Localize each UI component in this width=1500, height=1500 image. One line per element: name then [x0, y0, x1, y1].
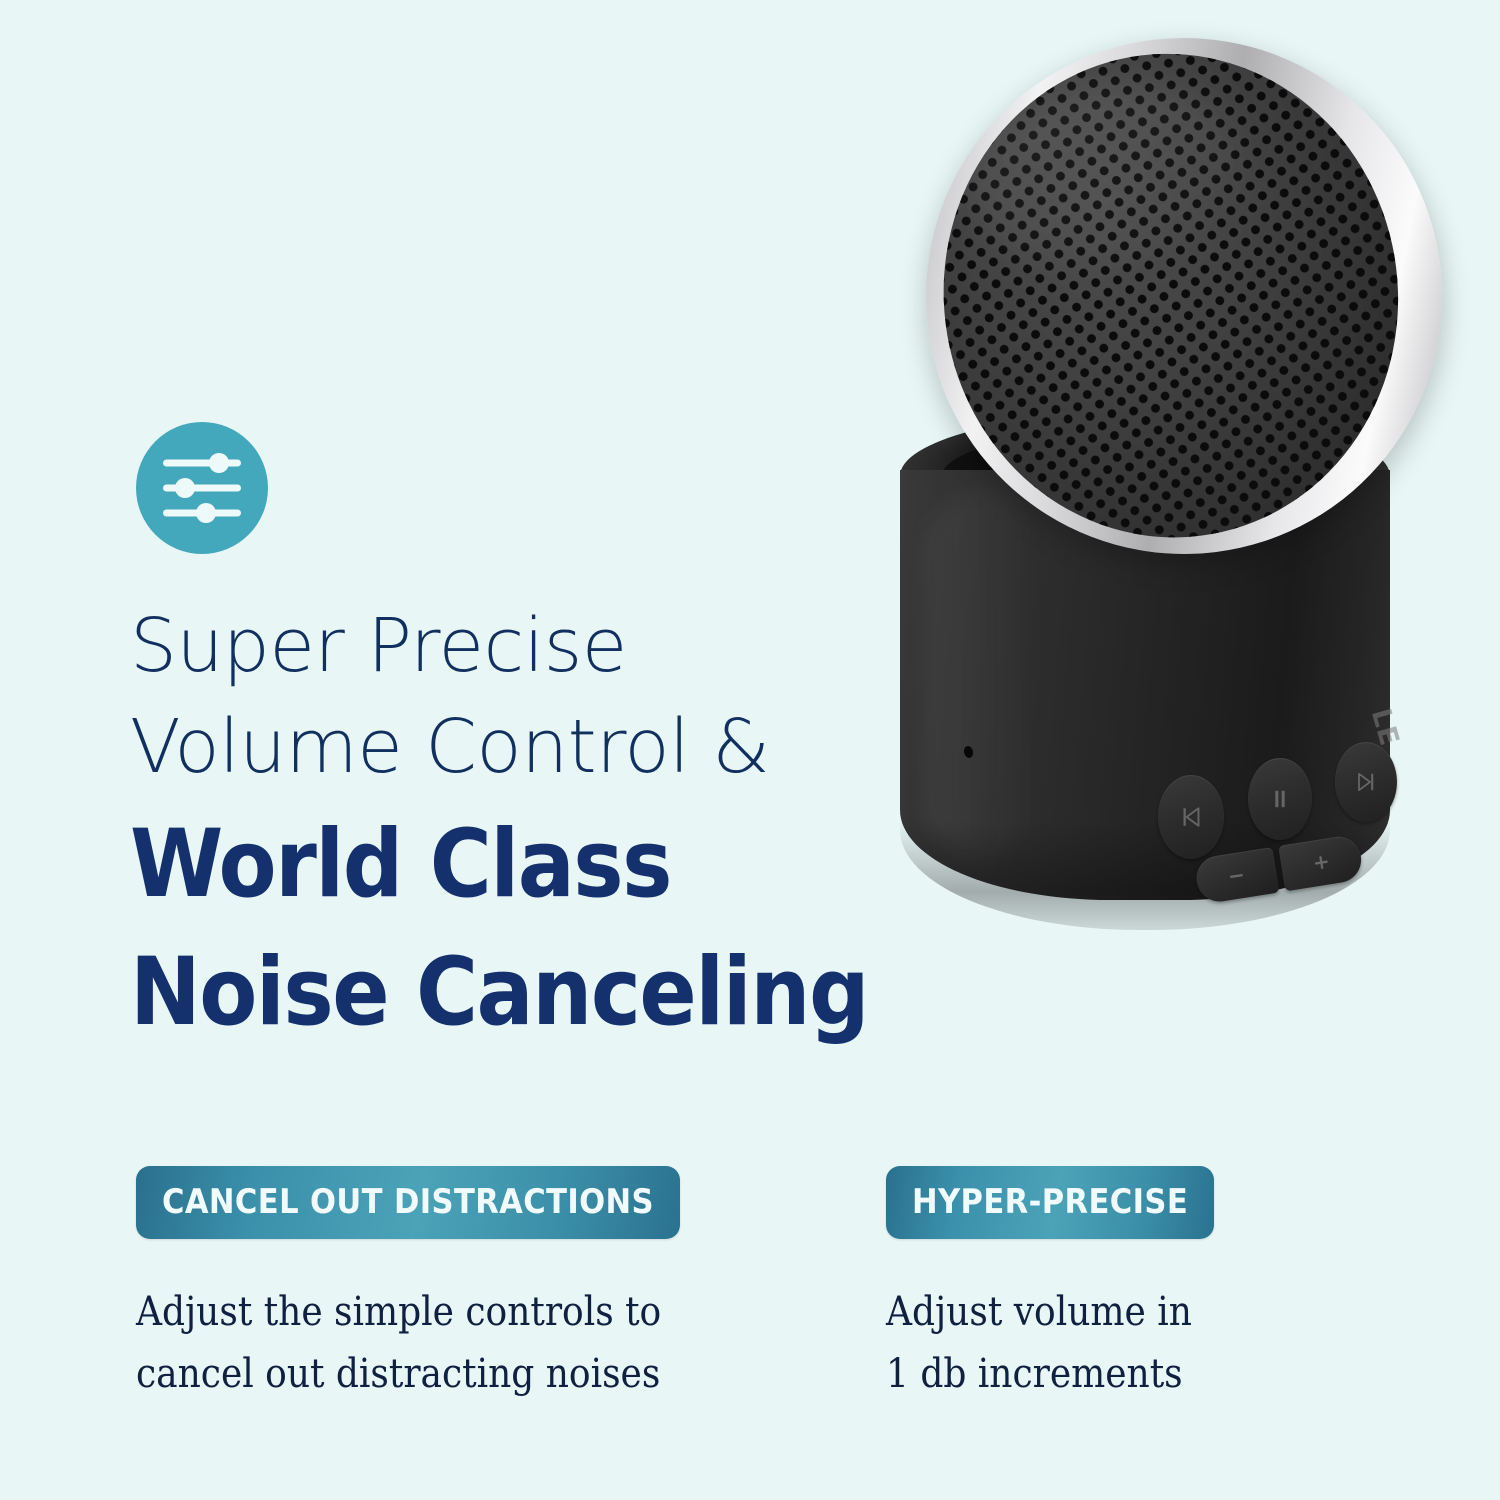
next-track-icon — [1352, 768, 1380, 796]
pause-icon — [1266, 785, 1294, 813]
plus-icon — [1306, 848, 1336, 878]
previous-track-button[interactable] — [1158, 775, 1224, 859]
feature-description-line: cancel out distracting noises — [136, 1343, 786, 1405]
feature-column-hyper-precise: HYPER-PRECISE Adjust volume in 1 db incr… — [886, 1166, 1286, 1405]
feature-description-line: 1 db increments — [886, 1343, 1286, 1405]
feature-description-cancel-out-distractions: Adjust the simple controls to cancel out… — [136, 1281, 786, 1405]
grille-face — [916, 28, 1426, 564]
slider-track — [163, 460, 241, 467]
slider-knob — [196, 503, 216, 523]
equalizer-sliders-icon — [136, 422, 268, 554]
badge-cancel-out-distractions: CANCEL OUT DISTRACTIONS — [136, 1166, 680, 1239]
badge-hyper-precise: HYPER-PRECISE — [886, 1166, 1214, 1239]
feature-column-cancel-out-distractions: CANCEL OUT DISTRACTIONS Adjust the simpl… — [136, 1166, 786, 1405]
next-track-button[interactable] — [1335, 742, 1397, 822]
slider-knob — [209, 453, 229, 473]
speaker-grille-disc — [896, 8, 1471, 583]
slider-row-3 — [163, 509, 241, 518]
feature-description-hyper-precise: Adjust volume in 1 db increments — [886, 1281, 1286, 1405]
product-image-speaker: LE — [860, 20, 1480, 960]
minus-icon — [1222, 861, 1252, 891]
slider-knob — [175, 478, 195, 498]
feature-columns: CANCEL OUT DISTRACTIONS Adjust the simpl… — [136, 1166, 1386, 1405]
feature-description-line: Adjust the simple controls to — [136, 1281, 786, 1343]
slider-row-1 — [163, 459, 241, 468]
pause-button[interactable] — [1248, 758, 1312, 840]
slider-row-2 — [163, 484, 241, 493]
previous-track-icon — [1176, 802, 1206, 832]
feature-description-line: Adjust volume in — [886, 1281, 1286, 1343]
product-feature-banner: Super Precise Volume Control & World Cla… — [0, 0, 1500, 1500]
